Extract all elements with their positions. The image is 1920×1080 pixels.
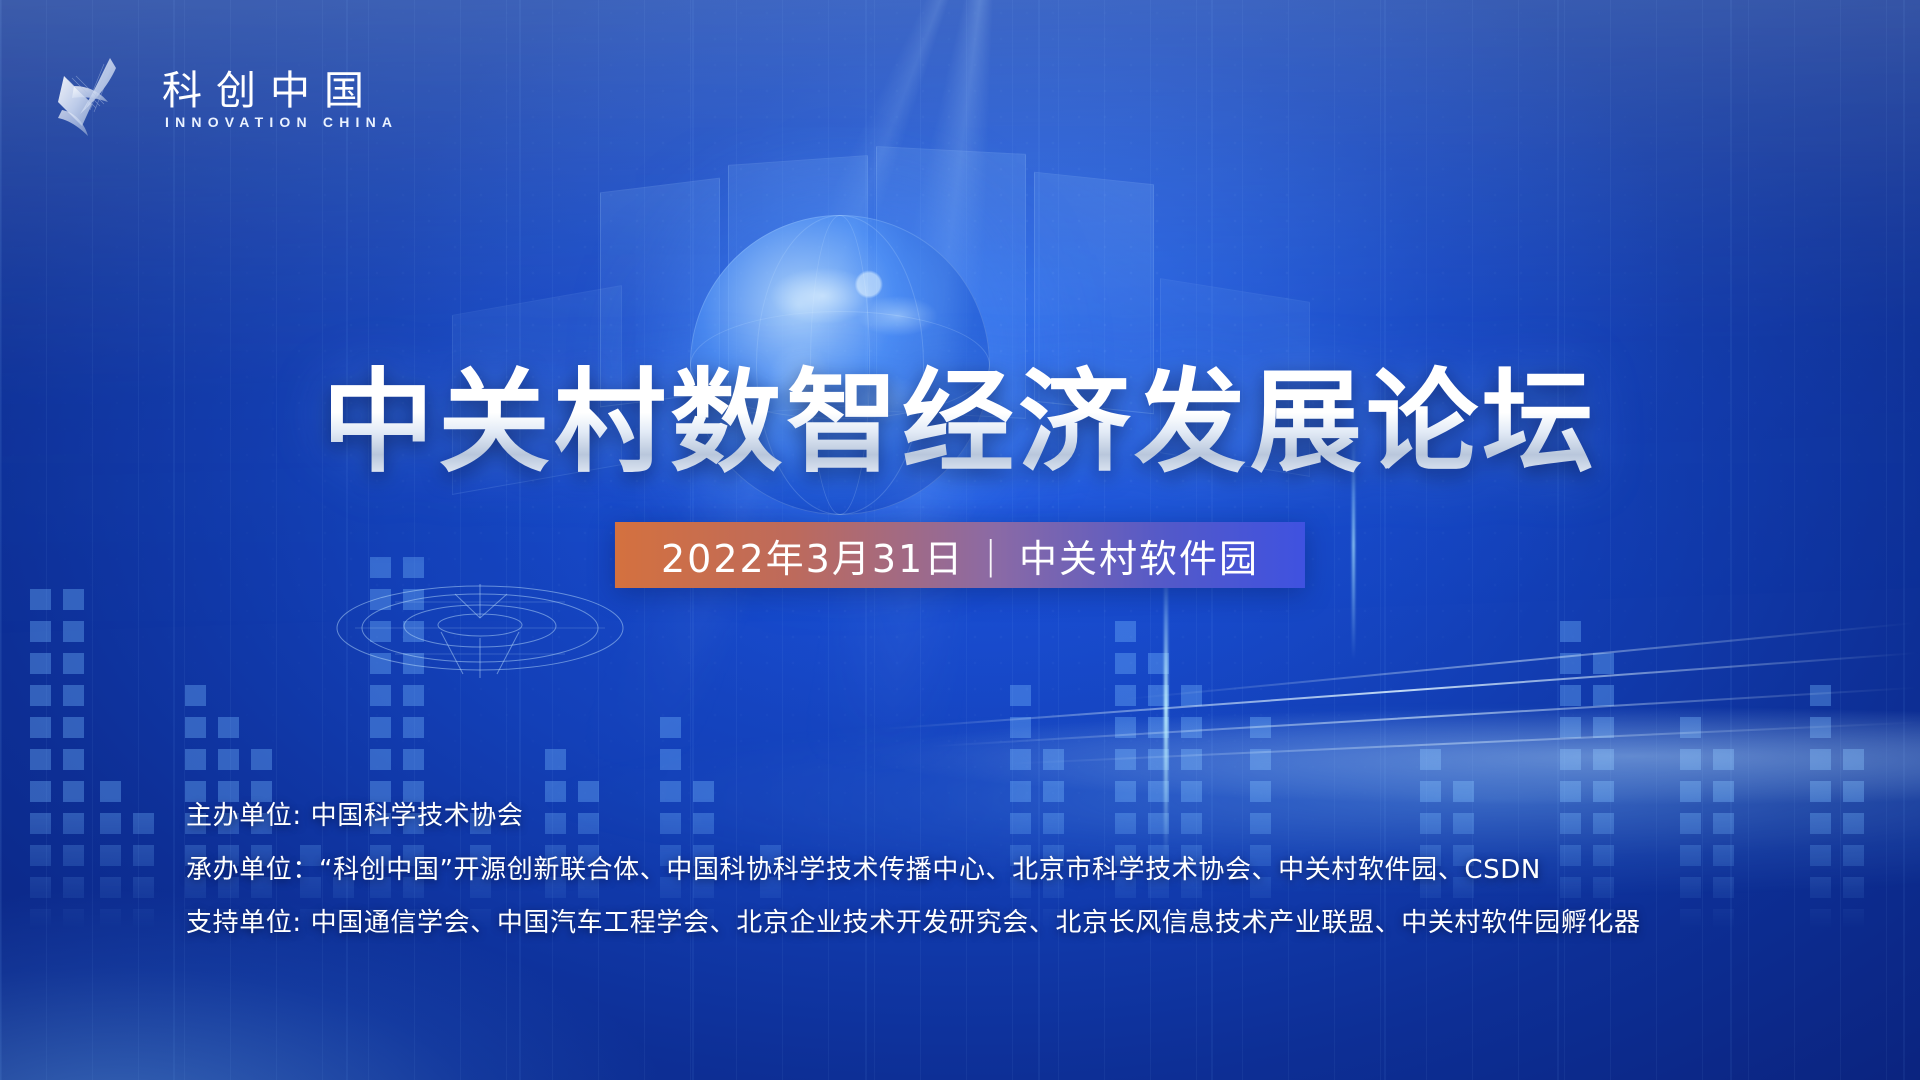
banner-separator: | [980,533,1003,577]
page-title: 中关村数智经济发展论坛 [322,357,1598,489]
organizer-line-coorganizer: 承办单位：“科创中国”开源创新联合体、中国科协科学技术传播中心、北京市科学技术协… [186,854,1641,887]
organizer-line-supporter: 支持单位: 中国通信学会、中国汽车工程学会、北京企业技术开发研究会、北京长风信息… [186,907,1641,940]
logo-chinese-name: 科创中国 [162,71,398,111]
logo-english-name: INNOVATION CHINA [162,115,398,129]
organizer-line-host: 主办单位: 中国科学技术协会 [186,800,1641,833]
event-date: 2022年3月31日 [661,528,964,583]
logo-text-block: 科创中国 INNOVATION CHINA [162,67,398,129]
poster-canvas: 科创中国 INNOVATION CHINA 中关村数智经济发展论坛 2022年3… [0,0,1920,1080]
innovation-china-wing-logo-icon [52,52,144,144]
brand-logo[interactable]: 科创中国 INNOVATION CHINA [52,52,398,144]
organizer-list: 主办单位: 中国科学技术协会 承办单位：“科创中国”开源创新联合体、中国科协科学… [186,800,1641,940]
event-venue: 中关村软件园 [1019,528,1259,583]
date-venue-banner: 2022年3月31日 | 中关村软件园 [615,522,1305,588]
satellite-dish-icon [335,570,625,680]
